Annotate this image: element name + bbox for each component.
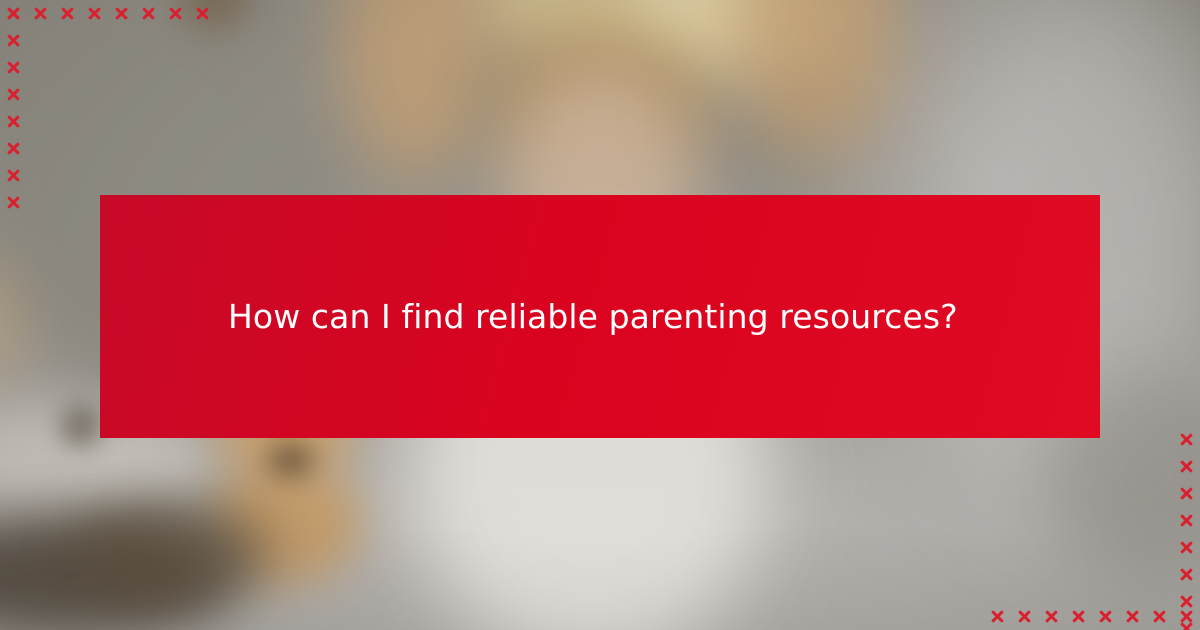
decorative-x-icon <box>6 33 21 48</box>
decorative-x-icon <box>6 6 21 21</box>
decorative-x-icon <box>168 6 183 21</box>
share-card-canvas: How can I find reliable parenting resour… <box>0 0 1200 630</box>
decorative-x-icon <box>6 195 21 210</box>
decorative-x-icon <box>1179 459 1194 474</box>
decorative-x-icon <box>1179 540 1194 555</box>
decorative-x-icon <box>1098 609 1113 624</box>
decorative-x-icon <box>1179 513 1194 528</box>
decorative-x-icon <box>1071 609 1086 624</box>
decorative-x-icon <box>1044 609 1059 624</box>
headline-text: How can I find reliable parenting resour… <box>100 296 1018 337</box>
decorative-x-icon <box>33 6 48 21</box>
decorative-x-icon <box>141 6 156 21</box>
decorative-x-icon <box>1179 486 1194 501</box>
decorative-x-icon <box>1179 594 1194 609</box>
decorative-x-icon <box>195 6 210 21</box>
decorative-x-icon <box>1179 432 1194 447</box>
headline-banner: How can I find reliable parenting resour… <box>100 195 1100 438</box>
decorative-x-icon <box>87 6 102 21</box>
decorative-x-icon <box>1017 609 1032 624</box>
decorative-x-icon <box>1179 567 1194 582</box>
decorative-x-icon <box>990 609 1005 624</box>
decorative-x-icon <box>6 87 21 102</box>
decorative-x-icon <box>114 6 129 21</box>
decorative-x-icon <box>6 60 21 75</box>
decorative-x-icon <box>6 141 21 156</box>
decorative-x-icon <box>60 6 75 21</box>
decorative-x-icon <box>1152 609 1167 624</box>
decorative-x-icon <box>1179 609 1194 624</box>
decorative-x-icon <box>1125 609 1140 624</box>
decorative-x-icon <box>6 168 21 183</box>
decorative-x-icon <box>6 114 21 129</box>
